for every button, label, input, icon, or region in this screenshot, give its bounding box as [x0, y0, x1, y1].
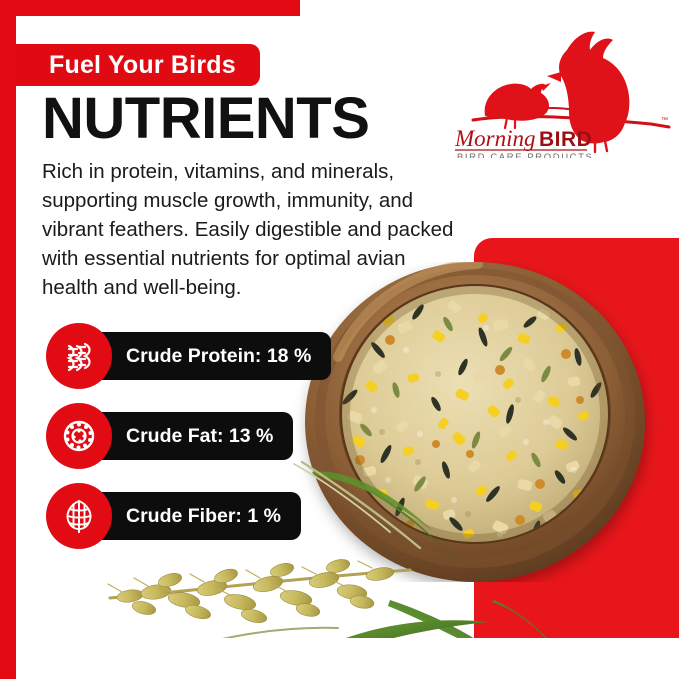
- logo-tagline: BIRD CARE PRODUCTS: [457, 152, 593, 158]
- description-text: Rich in protein, vitamins, and minerals,…: [42, 158, 457, 302]
- fiber-artichoke-icon: [46, 483, 112, 549]
- fuel-your-birds-banner: Fuel Your Birds: [15, 44, 260, 86]
- logo-bold-word: BIRD: [539, 128, 592, 151]
- logo-script-word: Morning: [455, 126, 536, 151]
- small-bird-icon: [485, 83, 551, 128]
- fat-globule-icon: [46, 403, 112, 469]
- protein-molecule-icon: [46, 323, 112, 389]
- banner-label: Fuel Your Birds: [49, 51, 236, 80]
- left-red-border: [0, 0, 16, 679]
- bottom-white-band: [0, 638, 679, 679]
- trademark-symbol: ™: [661, 117, 668, 124]
- top-red-border: [0, 0, 300, 16]
- nutrient-pill-fat: Crude Fat: 13 %: [90, 412, 293, 460]
- morning-bird-logo: ™ Morning BIRD BIRD CARE PRODUCTS: [455, 28, 679, 158]
- nutrient-badge-fiber: Crude Fiber: 1 %: [46, 482, 331, 550]
- nutrient-label-fat: Crude Fat: 13 %: [126, 425, 273, 448]
- nutrient-pill-fiber: Crude Fiber: 1 %: [90, 492, 301, 540]
- nutrient-badge-fat: Crude Fat: 13 %: [46, 402, 331, 470]
- infographic-page: Fuel Your Birds NUTRIENTS Rich in protei…: [0, 0, 679, 679]
- nutrient-label-fiber: Crude Fiber: 1 %: [126, 505, 281, 528]
- nutrient-badge-list: Crude Protein: 18 %: [46, 322, 331, 562]
- nutrient-label-protein: Crude Protein: 18 %: [126, 345, 311, 368]
- nutrient-badge-protein: Crude Protein: 18 %: [46, 322, 331, 390]
- nutrient-pill-protein: Crude Protein: 18 %: [90, 332, 331, 380]
- page-title: NUTRIENTS: [42, 90, 369, 148]
